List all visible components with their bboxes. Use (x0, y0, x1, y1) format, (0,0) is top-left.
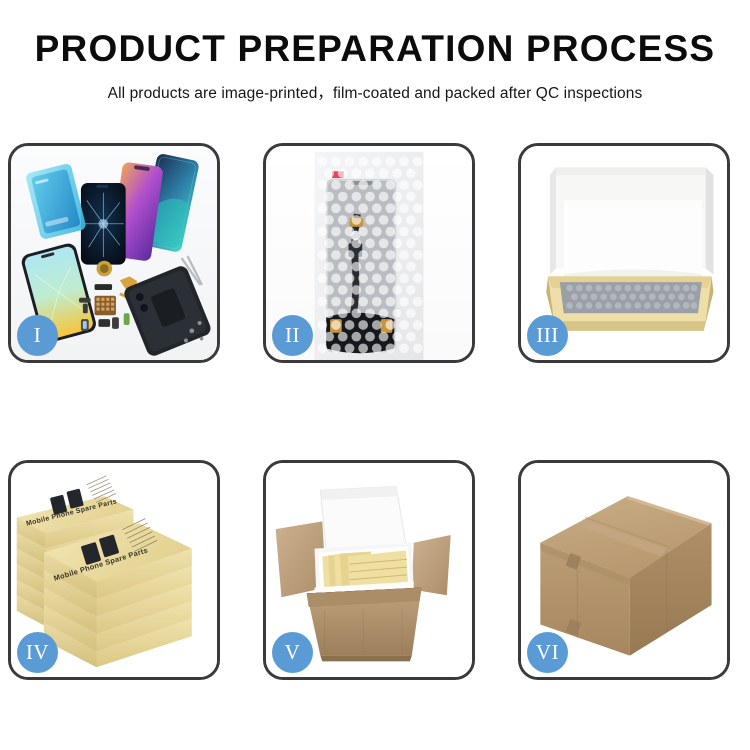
page-title: PRODUCT PREPARATION PROCESS (0, 30, 750, 69)
step-badge-5: V (272, 632, 313, 673)
process-step-card-5[interactable]: V (263, 460, 475, 680)
page-subtitle: All products are image-printed，film-coat… (0, 81, 750, 103)
step-badge-1: I (17, 315, 58, 356)
page-header: PRODUCT PREPARATION PROCESS All products… (0, 0, 750, 103)
process-step-card-4[interactable]: Mobile Phone Spare Parts (8, 460, 220, 680)
step-badge-4: IV (17, 632, 58, 673)
process-step-card-1[interactable]: I (8, 143, 220, 363)
step-badge-3: III (527, 315, 568, 356)
step-badge-2: II (272, 315, 313, 356)
process-step-grid: I (8, 143, 730, 680)
process-step-card-3[interactable]: III (518, 143, 730, 363)
process-step-card-2[interactable]: II (263, 143, 475, 363)
step-badge-6: VI (527, 632, 568, 673)
process-step-card-6[interactable]: VI (518, 460, 730, 680)
product-preparation-page: PRODUCT PREPARATION PROCESS All products… (0, 0, 750, 750)
